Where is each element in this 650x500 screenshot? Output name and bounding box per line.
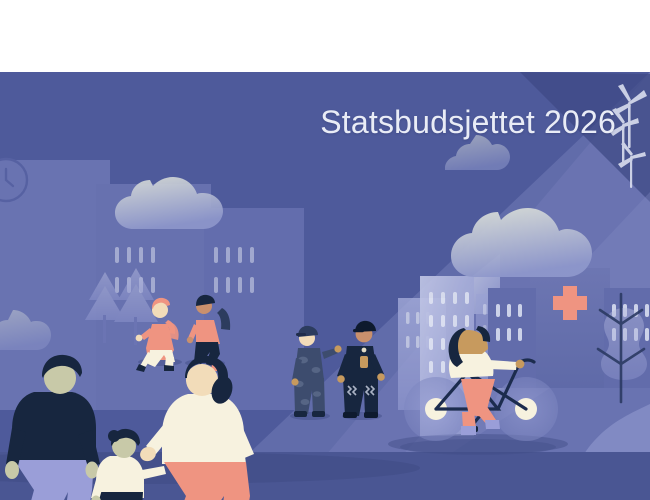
page-root: Statsbudsjettet 2026 [0,0,650,500]
top-white-band [0,0,650,72]
page-title: Statsbudsjettet 2026 [320,104,616,141]
